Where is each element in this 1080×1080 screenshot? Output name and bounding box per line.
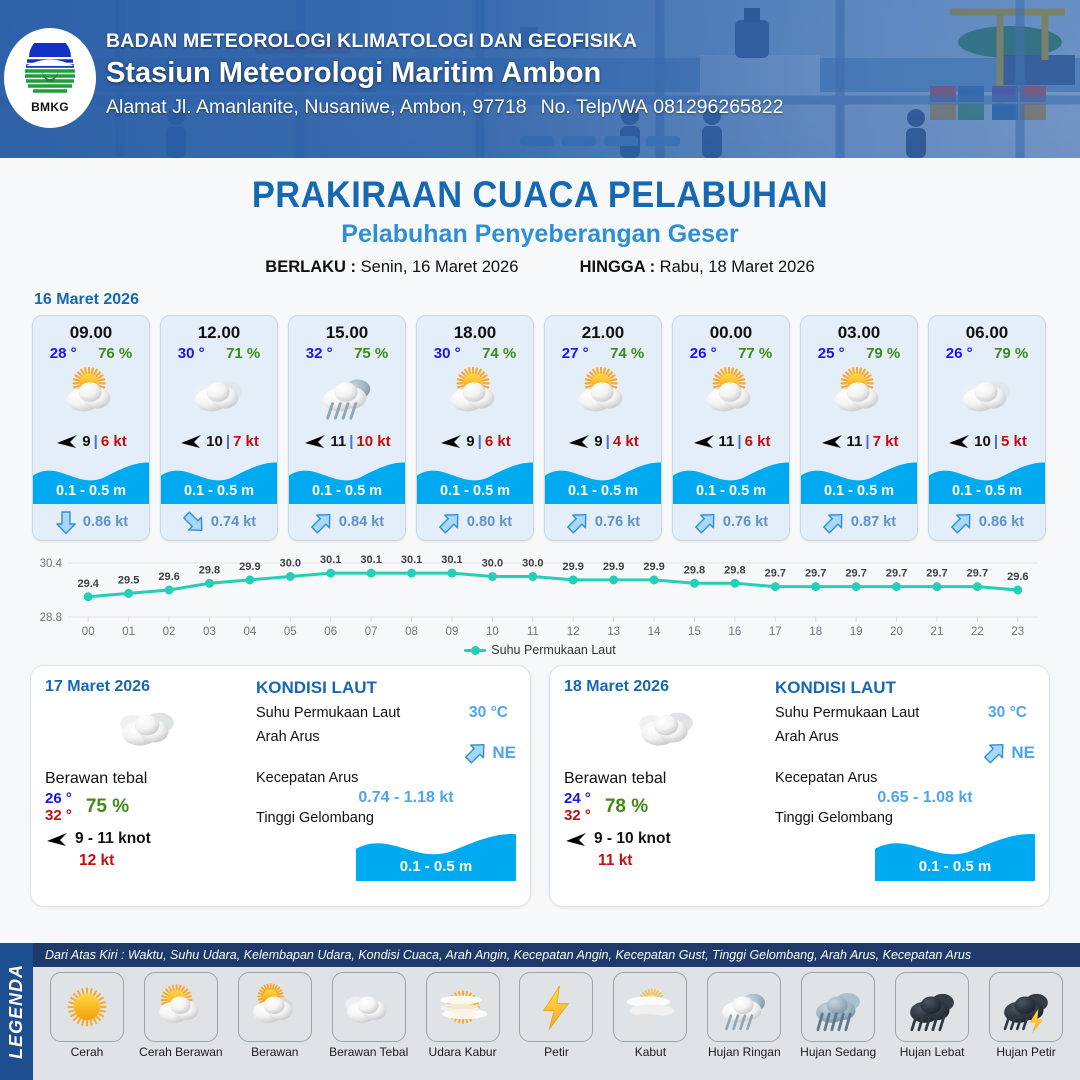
card-current-speed: 0.74 kt [211, 514, 256, 530]
wind-direction-icon [55, 432, 79, 450]
card-wave-height: 0.1 - 0.5 m [289, 483, 405, 499]
x-tick-label: 11 [527, 626, 539, 635]
card-current: 0.76 kt [545, 504, 661, 540]
wind-direction-icon [303, 432, 327, 450]
legend-item-label: Berawan [251, 1045, 298, 1059]
phone-label: No. Telp/WA [541, 96, 648, 118]
x-tick-label: 10 [486, 626, 499, 635]
x-tick-label: 00 [82, 626, 95, 635]
card-time: 21.00 [545, 316, 661, 343]
validity-period: BERLAKU : Senin, 16 Maret 2026 HINGGA : … [0, 258, 1080, 277]
legend-item: Kabut [604, 972, 696, 1080]
card-current-speed: 0.76 kt [723, 514, 768, 530]
cloudy-icon [161, 364, 277, 424]
legend-item-label: Hujan Lebat [900, 1045, 965, 1059]
wind-separator: | [994, 433, 998, 450]
svg-text:30.1: 30.1 [320, 555, 341, 566]
valid-until-value: Rabu, 18 Maret 2026 [660, 258, 815, 276]
daily-temp-max: 32 ° [45, 807, 72, 824]
forecast-card: 15.00 32 ° 75 % 11 | 10 kt [288, 315, 406, 541]
svg-text:29.8: 29.8 [684, 564, 705, 576]
svg-text:29.7: 29.7 [886, 568, 907, 580]
svg-text:30.1: 30.1 [441, 555, 462, 566]
sst-value: 30 °C [469, 704, 508, 722]
legend-item: Cerah Berawan [135, 972, 227, 1080]
station-address: Alamat Jl. Amanlanite, Nusaniwe, Ambon, … [106, 96, 527, 118]
card-humidity: 71 % [226, 345, 260, 362]
bmkg-logo: BMKG [4, 28, 96, 128]
svg-text:29.5: 29.5 [118, 574, 139, 586]
card-current: 0.76 kt [673, 504, 789, 540]
forecast-card: 12.00 30 ° 71 % 10 | 7 kt [160, 315, 278, 541]
moderate-rain-icon [801, 972, 875, 1042]
card-temperature: 25 ° [818, 345, 845, 362]
card-current: 0.80 kt [417, 504, 533, 540]
legend-item: Hujan Ringan [698, 972, 790, 1080]
rain-icon [289, 364, 405, 424]
legend-side-text: LEGENDA [6, 964, 27, 1059]
partly-cloudy-icon [33, 364, 149, 424]
cloud-sun-small-icon [238, 972, 312, 1042]
card-wind-direction: 11 [330, 433, 346, 450]
wind-direction-icon [947, 432, 971, 450]
card-wind-speed: 5 kt [1001, 433, 1027, 450]
card-current: 0.74 kt [161, 504, 277, 540]
card-humidity: 77 % [738, 345, 772, 362]
current-speed-label: Kecepatan Arus [775, 770, 877, 786]
forecast-card: 00.00 26 ° 77 % 11 | 6 kt [672, 315, 790, 541]
card-time: 15.00 [289, 316, 405, 343]
x-tick-label: 21 [931, 626, 944, 635]
card-current: 0.86 kt [929, 504, 1045, 540]
card-wind: 11 | 6 kt [673, 424, 789, 458]
current-direction-value: NE [492, 743, 516, 763]
current-direction-icon [689, 505, 724, 540]
card-humidity: 79 % [994, 345, 1028, 362]
lightning-icon [519, 972, 593, 1042]
card-temperature: 27 ° [562, 345, 589, 362]
card-temperature: 26 ° [690, 345, 717, 362]
daily-summary-row: 17 Maret 2026 Berawan tebal 26 ° 32 ° [0, 657, 1080, 907]
forecast-card: 18.00 30 ° 74 % 9 | 6 kt [416, 315, 534, 541]
card-wind-speed: 10 kt [356, 433, 390, 450]
card-time: 09.00 [33, 316, 149, 343]
x-tick-label: 05 [284, 626, 297, 635]
card-wind-direction: 10 [206, 433, 223, 450]
current-speed-value: 0.65 - 1.08 kt [815, 789, 1035, 807]
daily-temp-min: 26 ° [45, 790, 72, 807]
sun-cloud-icon [144, 972, 218, 1042]
card-wind-speed: 6 kt [101, 433, 127, 450]
card-current-speed: 0.87 kt [851, 514, 896, 530]
sun-icon [50, 972, 124, 1042]
sea-conditions-heading: KONDISI LAUT [256, 678, 516, 698]
card-humidity: 76 % [98, 345, 132, 362]
legend-item-label: Hujan Petir [996, 1045, 1055, 1059]
current-direction-icon [177, 505, 212, 540]
station-name: Stasiun Meteorologi Maritim Ambon [106, 57, 783, 90]
card-wave: 0.1 - 0.5 m [545, 458, 661, 504]
x-tick-label: 01 [122, 626, 135, 635]
x-tick-label: 13 [607, 626, 620, 635]
card-wind: 9 | 6 kt [417, 424, 533, 458]
daily-condition: Berawan tebal [45, 770, 250, 788]
chart-legend: Suhu Permukaan Laut [30, 643, 1050, 657]
card-current-speed: 0.80 kt [467, 514, 512, 530]
card-wind: 11 | 10 kt [289, 424, 405, 458]
x-tick-label: 09 [446, 626, 459, 635]
legend-item-label: Cerah Berawan [139, 1045, 222, 1059]
card-wave-height: 0.1 - 0.5 m [33, 483, 149, 499]
legend-side-label: LEGENDA [0, 943, 33, 1080]
wave-height-label: Tinggi Gelombang [256, 810, 374, 826]
wind-direction-icon [439, 432, 463, 450]
card-wind: 9 | 4 kt [545, 424, 661, 458]
haze-icon [426, 972, 500, 1042]
card-temperature: 26 ° [946, 345, 973, 362]
wind-direction-icon [179, 432, 203, 450]
card-humidity: 74 % [482, 345, 516, 362]
daily-temp-max: 32 ° [564, 807, 591, 824]
svg-text:30.0: 30.0 [522, 558, 543, 570]
daily-wind: 9 - 11 knot [45, 830, 250, 848]
x-tick-label: 02 [163, 626, 176, 635]
legend-item-label: Kabut [635, 1045, 666, 1059]
forecast-card: 06.00 26 ° 79 % 10 | 5 kt [928, 315, 1046, 541]
daily-condition: Berawan tebal [564, 770, 769, 788]
legend-item: Berawan [229, 972, 321, 1080]
card-current-speed: 0.84 kt [339, 514, 384, 530]
wind-separator: | [349, 433, 353, 450]
card-time: 00.00 [673, 316, 789, 343]
card-wind-speed: 7 kt [233, 433, 259, 450]
legend-bar: LEGENDA Dari Atas Kiri : Waktu, Suhu Uda… [0, 943, 1080, 1080]
current-direction-icon [945, 505, 980, 540]
wind-direction-icon [45, 830, 69, 848]
card-wind-direction: 9 [594, 433, 602, 450]
page-subtitle: Pelabuhan Penyeberangan Geser [0, 220, 1080, 249]
svg-text:29.9: 29.9 [643, 561, 664, 573]
current-direction-icon [978, 735, 1013, 770]
current-direction-icon [561, 505, 596, 540]
phone-number: 081296265822 [653, 96, 783, 118]
wave-height-label: Tinggi Gelombang [775, 810, 893, 826]
daily-gust: 12 kt [79, 852, 250, 870]
card-wave-height: 0.1 - 0.5 m [545, 483, 661, 499]
wind-direction-icon [564, 830, 588, 848]
svg-text:29.8: 29.8 [199, 564, 220, 576]
current-speed-value: 0.74 - 1.18 kt [296, 789, 516, 807]
card-time: 03.00 [801, 316, 917, 343]
svg-text:29.4: 29.4 [77, 578, 99, 590]
wind-separator: | [606, 433, 610, 450]
legend-item-label: Cerah [71, 1045, 104, 1059]
partly-cloudy-icon [673, 364, 789, 424]
svg-text:29.7: 29.7 [845, 568, 866, 580]
legend-item-label: Berawan Tebal [329, 1045, 408, 1059]
card-current-speed: 0.86 kt [979, 514, 1024, 530]
card-wave-height: 0.1 - 0.5 m [801, 483, 917, 499]
thunderstorm-icon [989, 972, 1063, 1042]
card-wind: 9 | 6 kt [33, 424, 149, 458]
card-wave: 0.1 - 0.5 m [801, 458, 917, 504]
light-rain-icon [707, 972, 781, 1042]
svg-text:29.7: 29.7 [805, 568, 826, 580]
valid-until-label: HINGGA : [580, 258, 655, 276]
y-tick-min: 28.8 [40, 612, 62, 624]
legend-item-label: Hujan Sedang [800, 1045, 876, 1059]
card-wave: 0.1 - 0.5 m [929, 458, 1045, 504]
daily-forecast-panel: 17 Maret 2026 Berawan tebal 26 ° 32 ° [30, 665, 531, 907]
card-current-speed: 0.76 kt [595, 514, 640, 530]
wind-direction-icon [820, 432, 844, 450]
legend-item: Hujan Sedang [792, 972, 884, 1080]
svg-text:30.0: 30.0 [482, 558, 503, 570]
svg-text:29.8: 29.8 [724, 564, 745, 576]
heavy-rain-icon [895, 972, 969, 1042]
x-tick-label: 06 [324, 626, 337, 635]
card-current: 0.84 kt [289, 504, 405, 540]
forecast-date-label: 16 Maret 2026 [34, 291, 1080, 309]
chart-legend-swatch [464, 649, 486, 652]
wind-separator: | [865, 433, 869, 450]
legend-note: Dari Atas Kiri : Waktu, Suhu Udara, Kele… [33, 943, 1080, 967]
x-tick-label: 23 [1011, 626, 1024, 635]
legend-icon-row: Cerah Cerah Berawan [33, 967, 1080, 1080]
legend-item: Hujan Lebat [886, 972, 978, 1080]
card-wave-height: 0.1 - 0.5 m [673, 483, 789, 499]
card-humidity: 75 % [354, 345, 388, 362]
forecast-card: 03.00 25 ° 79 % 11 | 7 kt [800, 315, 918, 541]
card-wave-height: 0.1 - 0.5 m [161, 483, 277, 499]
svg-text:29.7: 29.7 [926, 568, 947, 580]
y-tick-max: 30.4 [40, 558, 63, 570]
card-time: 12.00 [161, 316, 277, 343]
current-direction-icon [54, 510, 78, 535]
svg-text:30.0: 30.0 [280, 558, 301, 570]
current-direction-value: NE [1011, 743, 1035, 763]
partly-cloudy-icon [417, 364, 533, 424]
x-tick-label: 22 [971, 626, 984, 635]
daily-wind: 9 - 10 knot [564, 830, 769, 848]
forecast-card: 09.00 28 ° 76 % 9 | 6 kt [32, 315, 150, 541]
current-direction-label: Arah Arus [256, 729, 320, 745]
overcast-icon [45, 696, 250, 758]
x-tick-label: 15 [688, 626, 701, 635]
card-wave: 0.1 - 0.5 m [33, 458, 149, 504]
daily-humidity: 75 % [86, 796, 129, 818]
valid-from-value: Senin, 16 Maret 2026 [361, 258, 519, 276]
clouds-icon [332, 972, 406, 1042]
card-wave: 0.1 - 0.5 m [673, 458, 789, 504]
card-wave: 0.1 - 0.5 m [417, 458, 533, 504]
x-tick-label: 07 [365, 626, 378, 635]
wind-separator: | [478, 433, 482, 450]
fog-icon [613, 972, 687, 1042]
current-direction-icon [433, 505, 468, 540]
daily-wave-height: 0.1 - 0.5 m [875, 858, 1035, 875]
overcast-icon [564, 696, 769, 758]
x-tick-label: 16 [728, 626, 741, 635]
wind-direction-icon [692, 432, 716, 450]
station-contact: Alamat Jl. Amanlanite, Nusaniwe, Ambon, … [106, 96, 783, 119]
x-tick-label: 04 [243, 626, 256, 635]
card-wind: 10 | 7 kt [161, 424, 277, 458]
svg-text:29.6: 29.6 [158, 571, 179, 583]
card-current-speed: 0.86 kt [83, 514, 128, 530]
bmkg-logo-text: BMKG [31, 100, 69, 114]
legend-item: Udara Kabur [417, 972, 509, 1080]
card-wind-direction: 9 [466, 433, 474, 450]
cloudy-icon [929, 364, 1045, 424]
svg-text:29.9: 29.9 [603, 561, 624, 573]
svg-text:29.9: 29.9 [562, 561, 583, 573]
daily-wind-range: 9 - 11 knot [75, 830, 151, 848]
chart-legend-label: Suhu Permukaan Laut [491, 643, 615, 657]
forecast-card: 21.00 27 ° 74 % 9 | 4 kt [544, 315, 662, 541]
card-wind-direction: 11 [719, 433, 735, 450]
wind-separator: | [94, 433, 98, 450]
wind-separator: | [737, 433, 741, 450]
x-tick-label: 08 [405, 626, 418, 635]
wind-separator: | [226, 433, 230, 450]
page-title: PRAKIRAAN CUACA PELABUHAN [38, 174, 1042, 216]
title-block: PRAKIRAAN CUACA PELABUHAN Pelabuhan Peny… [0, 158, 1080, 277]
daily-gust: 11 kt [598, 852, 769, 870]
legend-item: Cerah [41, 972, 133, 1080]
daily-wave-graphic: 0.1 - 0.5 m [875, 829, 1035, 881]
card-temperature: 32 ° [306, 345, 333, 362]
card-wind-speed: 7 kt [873, 433, 899, 450]
wind-direction-icon [567, 432, 591, 450]
card-temperature: 30 ° [434, 345, 461, 362]
legend-item: Petir [511, 972, 603, 1080]
daily-wave-graphic: 0.1 - 0.5 m [356, 829, 516, 881]
daily-wind-range: 9 - 10 knot [594, 830, 671, 848]
card-wind-direction: 10 [974, 433, 991, 450]
sst-chart: 30.4 28.8 29.429.529.629.829.930.030.130… [0, 555, 1080, 657]
x-tick-label: 14 [648, 626, 661, 635]
x-tick-label: 18 [809, 626, 822, 635]
x-tick-label: 03 [203, 626, 216, 635]
card-wind: 10 | 5 kt [929, 424, 1045, 458]
svg-text:29.6: 29.6 [1007, 571, 1028, 583]
card-wave-height: 0.1 - 0.5 m [929, 483, 1045, 499]
svg-text:30.1: 30.1 [401, 555, 422, 566]
hourly-forecast-row: 09.00 28 ° 76 % 9 | 6 kt [0, 315, 1080, 541]
daily-temp-min: 24 ° [564, 790, 591, 807]
sst-label: Suhu Permukaan Laut [256, 705, 400, 721]
partly-cloudy-icon [545, 364, 661, 424]
partly-cloudy-icon [801, 364, 917, 424]
legend-item-label: Udara Kabur [429, 1045, 497, 1059]
svg-text:30.1: 30.1 [360, 555, 381, 566]
x-tick-label: 20 [890, 626, 903, 635]
card-wave: 0.1 - 0.5 m [161, 458, 277, 504]
card-wave: 0.1 - 0.5 m [289, 458, 405, 504]
current-direction-icon [305, 505, 340, 540]
x-tick-label: 12 [567, 626, 580, 635]
header-text-block: BADAN METEOROLOGI KLIMATOLOGI DAN GEOFIS… [106, 30, 783, 119]
legend-item: Berawan Tebal [323, 972, 415, 1080]
current-direction-icon [459, 735, 494, 770]
card-humidity: 74 % [610, 345, 644, 362]
card-wind-direction: 9 [82, 433, 90, 450]
sst-value: 30 °C [988, 704, 1027, 722]
sea-conditions-heading: KONDISI LAUT [775, 678, 1035, 698]
svg-text:29.7: 29.7 [765, 568, 786, 580]
card-time: 06.00 [929, 316, 1045, 343]
card-wind-direction: 11 [847, 433, 863, 450]
bmkg-emblem-icon [21, 43, 79, 99]
card-wind: 11 | 7 kt [801, 424, 917, 458]
page-header: BMKG BADAN METEOROLOGI KLIMATOLOGI DAN G… [0, 0, 1080, 158]
x-tick-label: 17 [769, 626, 782, 635]
card-wind-speed: 6 kt [485, 433, 511, 450]
x-tick-label: 19 [850, 626, 863, 635]
legend-item-label: Hujan Ringan [708, 1045, 781, 1059]
card-temperature: 30 ° [178, 345, 205, 362]
daily-forecast-panel: 18 Maret 2026 Berawan tebal 24 ° 32 ° [549, 665, 1050, 907]
current-direction-icon [817, 505, 852, 540]
card-humidity: 79 % [866, 345, 900, 362]
agency-name: BADAN METEOROLOGI KLIMATOLOGI DAN GEOFIS… [106, 30, 783, 53]
card-current: 0.86 kt [33, 504, 149, 540]
svg-text:29.9: 29.9 [239, 561, 260, 573]
card-wind-speed: 6 kt [745, 433, 771, 450]
sst-label: Suhu Permukaan Laut [775, 705, 919, 721]
sst-line-chart: 30.4 28.8 29.429.529.629.829.930.030.130… [30, 555, 1050, 635]
current-direction-label: Arah Arus [775, 729, 839, 745]
daily-wave-height: 0.1 - 0.5 m [356, 858, 516, 875]
sst-series-line [88, 573, 1018, 597]
card-wind-speed: 4 kt [613, 433, 639, 450]
card-temperature: 28 ° [50, 345, 77, 362]
daily-humidity: 78 % [605, 796, 648, 818]
legend-item: Hujan Petir [980, 972, 1072, 1080]
legend-item-label: Petir [544, 1045, 569, 1059]
card-time: 18.00 [417, 316, 533, 343]
card-current: 0.87 kt [801, 504, 917, 540]
valid-from-label: BERLAKU : [265, 258, 356, 276]
card-wave-height: 0.1 - 0.5 m [417, 483, 533, 499]
svg-text:29.7: 29.7 [967, 568, 988, 580]
current-speed-label: Kecepatan Arus [256, 770, 358, 786]
